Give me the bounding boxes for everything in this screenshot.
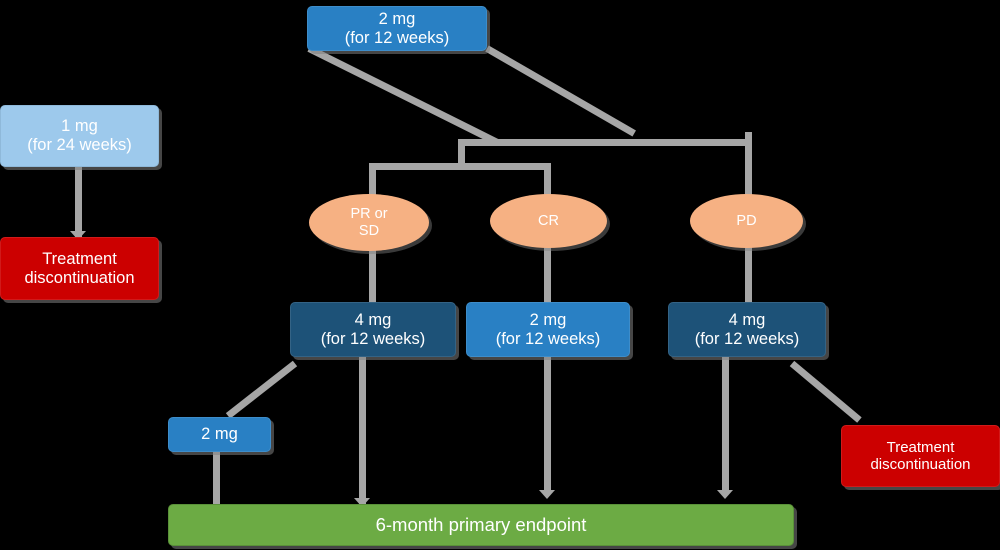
node-response-cr-label: CR	[538, 213, 559, 230]
node-dose-cr-line2: (for 12 weeks)	[496, 330, 601, 349]
connector-bus-second	[369, 163, 551, 170]
node-dose-cr-line1: 2 mg	[530, 311, 567, 330]
node-left-discontinuation[interactable]: Treatment discontinuation	[0, 237, 159, 300]
connector-left-dose-to-discontinuation	[75, 165, 82, 238]
connector-dose-cr-to-endpoint	[544, 357, 551, 493]
node-response-pr-sd-line1: PR or	[350, 206, 387, 223]
node-dose-pd-line2: (for 12 weeks)	[695, 330, 800, 349]
connector-top-to-right-branch	[485, 45, 636, 136]
node-response-pr-sd[interactable]: PR or SD	[309, 194, 429, 251]
node-left-discontinuation-line1: Treatment	[42, 250, 117, 269]
node-endpoint-label: 6-month primary endpoint	[376, 514, 587, 535]
node-top-dose-line2: (for 12 weeks)	[345, 29, 450, 48]
node-left-dose-line2: (for 24 weeks)	[27, 136, 132, 155]
node-endpoint[interactable]: 6-month primary endpoint	[168, 504, 794, 546]
node-dose-pd-line1: 4 mg	[729, 311, 766, 330]
node-dose-pd[interactable]: 4 mg (for 12 weeks)	[668, 302, 826, 357]
node-right-discontinuation[interactable]: Treatment discontinuation	[841, 425, 1000, 487]
node-dose-pr-sd-line1: 4 mg	[355, 311, 392, 330]
connector-pd-to-dose	[745, 245, 752, 303]
connector-bus-to-cr	[544, 163, 551, 195]
node-right-discontinuation-line1: Treatment	[887, 439, 955, 456]
connector-top-to-left-dose	[307, 45, 498, 145]
connector-dose-pr-sd-to-endpoint	[359, 357, 366, 505]
node-left-dose-line1: 1 mg	[61, 117, 98, 136]
connector-bus-top	[458, 139, 752, 146]
connector-cr-to-dose	[544, 245, 551, 303]
flowchart-canvas: 2 mg (for 12 weeks) 1 mg (for 24 weeks) …	[0, 0, 1000, 550]
node-response-cr[interactable]: CR	[490, 194, 607, 248]
node-response-pd[interactable]: PD	[690, 194, 803, 248]
arrowhead-dose-cr-to-endpoint	[539, 490, 555, 499]
connector-bus-to-pd	[745, 139, 752, 195]
node-left-discontinuation-line2: discontinuation	[24, 269, 134, 288]
connector-dose-pd-to-discontinuation	[790, 361, 862, 423]
connector-dose-pr-sd-to-reduction	[226, 361, 297, 419]
connector-reduction-to-endpoint	[213, 452, 220, 506]
node-dose-pr-sd[interactable]: 4 mg (for 12 weeks)	[290, 302, 456, 357]
node-top-dose-line1: 2 mg	[379, 10, 416, 29]
node-top-dose[interactable]: 2 mg (for 12 weeks)	[307, 6, 487, 51]
connector-bus-to-pr-sd	[369, 163, 376, 195]
node-response-pr-sd-line2: SD	[359, 223, 379, 240]
node-response-pd-label: PD	[736, 213, 756, 230]
node-dose-reduction-label: 2 mg	[201, 425, 238, 444]
node-dose-cr[interactable]: 2 mg (for 12 weeks)	[466, 302, 630, 357]
node-dose-reduction[interactable]: 2 mg	[168, 417, 271, 452]
connector-pr-sd-to-dose	[369, 245, 376, 303]
node-dose-pr-sd-line2: (for 12 weeks)	[321, 330, 426, 349]
arrowhead-dose-pd-to-endpoint	[717, 490, 733, 499]
node-right-discontinuation-line2: discontinuation	[870, 456, 970, 473]
connector-dose-pd-to-endpoint	[722, 357, 729, 493]
node-left-dose[interactable]: 1 mg (for 24 weeks)	[0, 105, 159, 167]
